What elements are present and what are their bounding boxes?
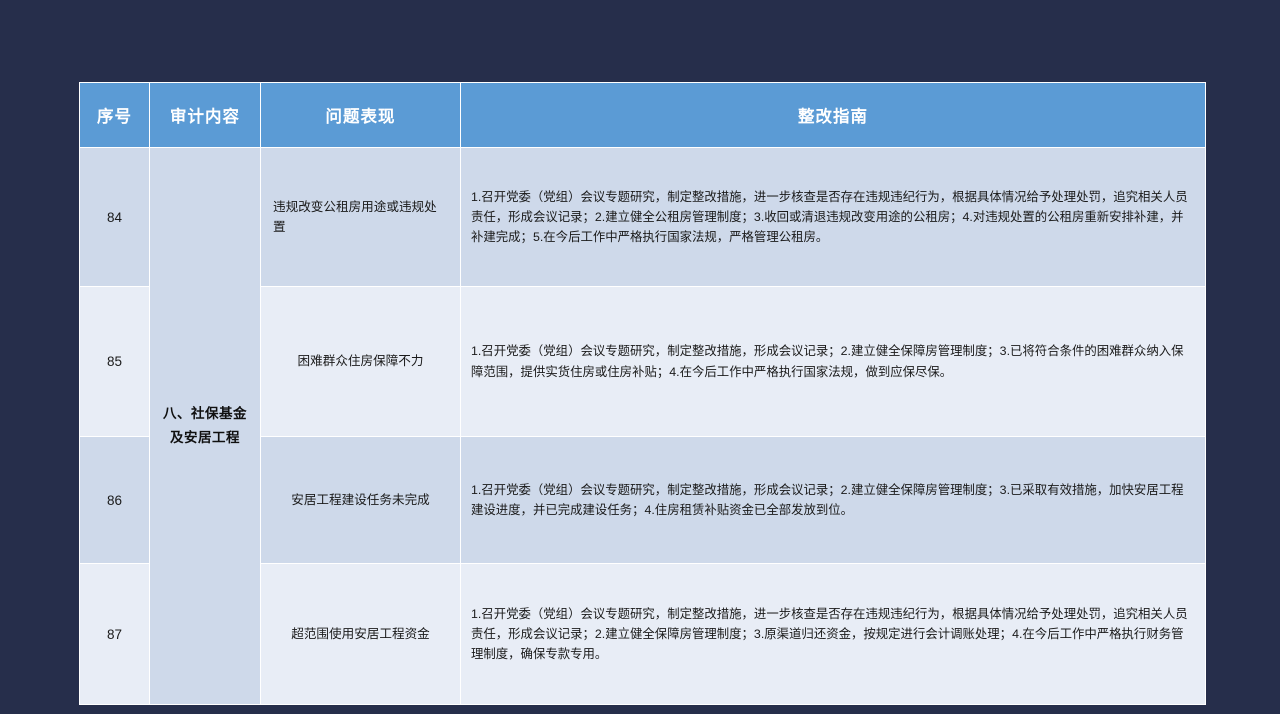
- cell-sequence: 87: [80, 564, 149, 704]
- audit-rectification-table: 序号 审计内容 问题表现 整改指南 84 八、社保基金 及安居工程 违规改变公租…: [79, 82, 1206, 705]
- column-header-sequence: 序号: [80, 83, 149, 147]
- table-body: 84 八、社保基金 及安居工程 违规改变公租房用途或违规处置 1.召开党委（党组…: [80, 148, 1205, 704]
- slide-canvas: 序号 审计内容 问题表现 整改指南 84 八、社保基金 及安居工程 违规改变公租…: [0, 0, 1280, 714]
- header-row: 序号 审计内容 问题表现 整改指南: [80, 83, 1205, 147]
- category-line-1: 八、社保基金: [151, 402, 259, 426]
- cell-sequence: 86: [80, 437, 149, 563]
- cell-guidance: 1.召开党委（党组）会议专题研究，制定整改措施，形成会议记录；2.建立健全保障房…: [461, 437, 1205, 563]
- cell-sequence: 85: [80, 287, 149, 436]
- cell-issue: 超范围使用安居工程资金: [261, 564, 460, 704]
- table-row: 84 八、社保基金 及安居工程 违规改变公租房用途或违规处置 1.召开党委（党组…: [80, 148, 1205, 286]
- cell-sequence: 84: [80, 148, 149, 286]
- cell-guidance: 1.召开党委（党组）会议专题研究，制定整改措施，形成会议记录；2.建立健全保障房…: [461, 287, 1205, 436]
- column-header-issue: 问题表现: [261, 83, 460, 147]
- column-header-audit-content: 审计内容: [150, 83, 260, 147]
- audit-table-container: 序号 审计内容 问题表现 整改指南 84 八、社保基金 及安居工程 违规改变公租…: [79, 82, 1204, 705]
- column-header-guidance: 整改指南: [461, 83, 1205, 147]
- cell-issue: 违规改变公租房用途或违规处置: [261, 148, 460, 286]
- cell-guidance: 1.召开党委（党组）会议专题研究，制定整改措施，进一步核查是否存在违规违纪行为，…: [461, 564, 1205, 704]
- cell-issue: 安居工程建设任务未完成: [261, 437, 460, 563]
- cell-guidance: 1.召开党委（党组）会议专题研究，制定整改措施，进一步核查是否存在违规违纪行为，…: [461, 148, 1205, 286]
- category-line-2: 及安居工程: [151, 426, 259, 450]
- cell-audit-category: 八、社保基金 及安居工程: [150, 148, 260, 704]
- table-header: 序号 审计内容 问题表现 整改指南: [80, 83, 1205, 147]
- cell-issue: 困难群众住房保障不力: [261, 287, 460, 436]
